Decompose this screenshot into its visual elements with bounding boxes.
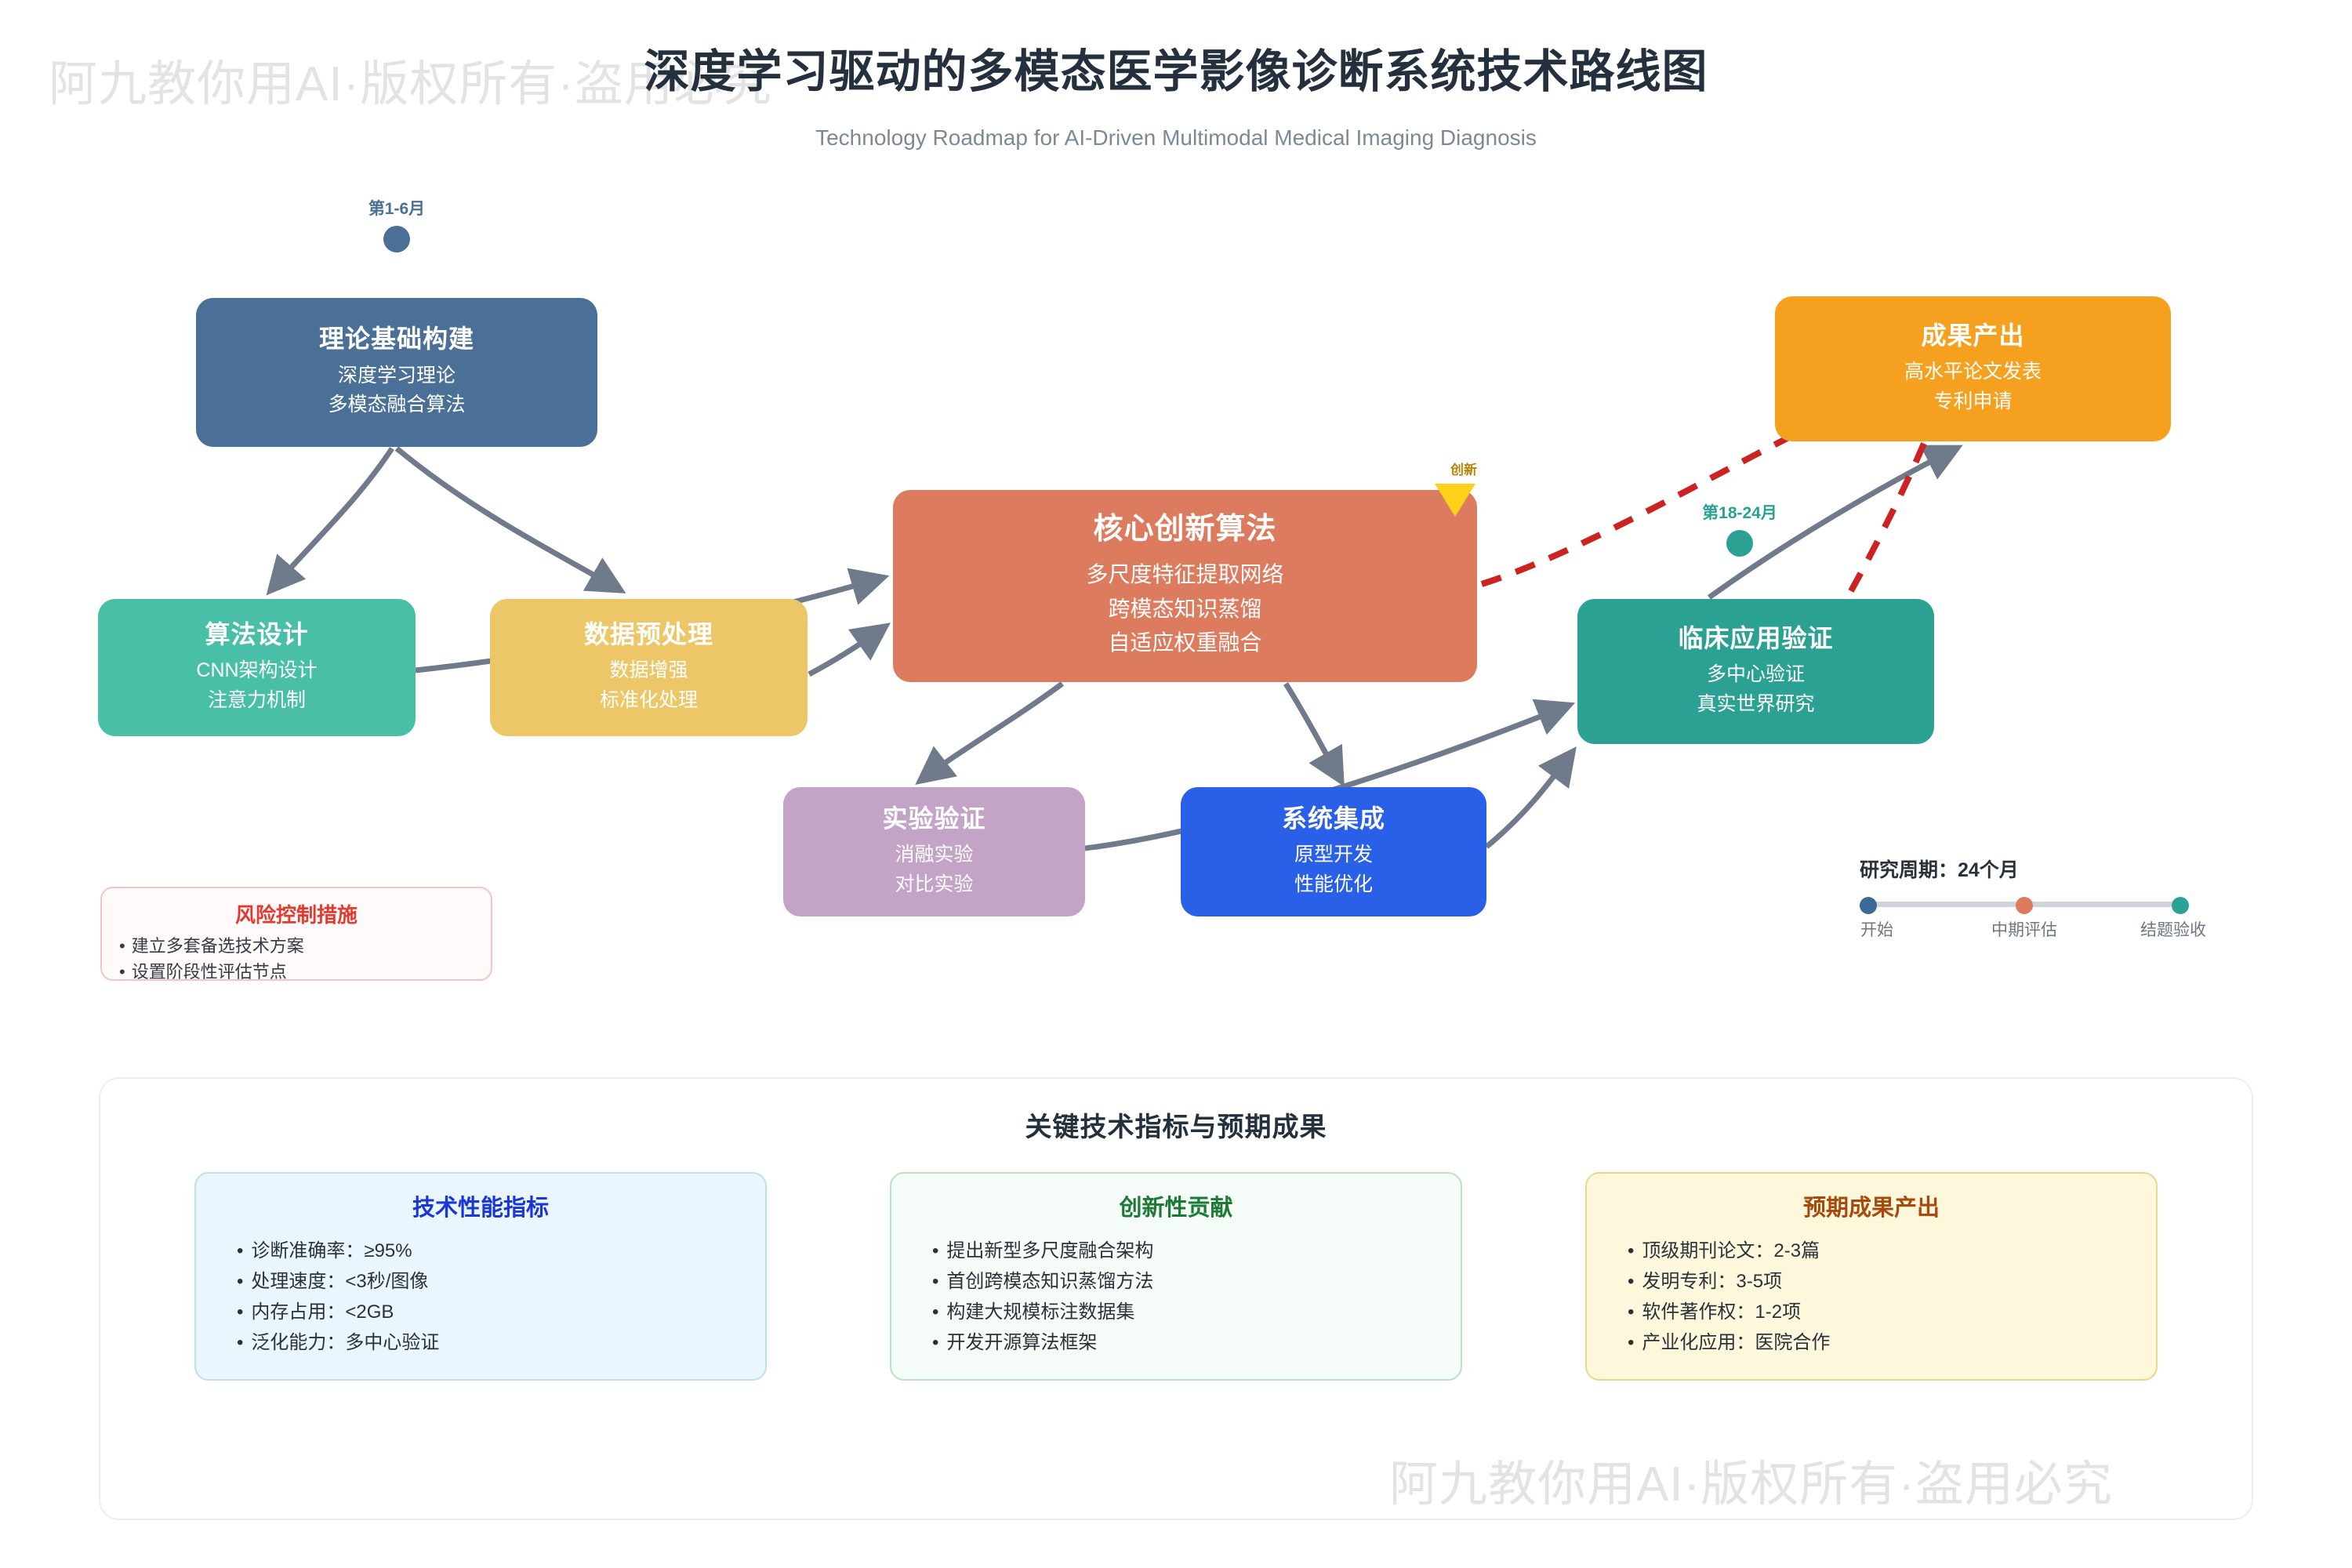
list-item: 产业化应用：医院合作 [1628, 1328, 2136, 1359]
node-line: 深度学习理论 [338, 361, 456, 391]
card-title: 预期成果产出 [1607, 1189, 2136, 1222]
milestone-dot-icon [383, 226, 410, 252]
timeline-labels: 开始 中期评估 结题验收 [1860, 917, 2189, 941]
milestone-phase-4: 第18-24月 [1661, 500, 1818, 557]
node-clinical-validation[interactable]: 临床应用验证 多中心验证 真实世界研究 [1577, 599, 1934, 744]
panel-title: 关键技术指标与预期成果 [100, 1105, 2252, 1144]
innovation-badge-label: 创新 [1450, 463, 1477, 477]
timeline-dot-start [1860, 897, 1877, 914]
timeline-title: 研究周期：24个月 [1860, 855, 2189, 883]
timeline-label-start: 开始 [1860, 917, 1893, 941]
node-line: 专利申请 [1933, 387, 2012, 417]
key-metrics-panel: 关键技术指标与预期成果 技术性能指标 诊断准确率：≥95% 处理速度：<3秒/图… [99, 1077, 2253, 1520]
timeline-label-final: 结题验收 [2140, 917, 2206, 941]
risk-control-list: 建立多套备选技术方案 设置阶段性评估节点 [119, 933, 474, 985]
list-item: 设置阶段性评估节点 [119, 959, 474, 985]
list-item: 诊断准确率：≥95% [237, 1236, 745, 1267]
node-line: 标准化处理 [600, 686, 698, 716]
node-algorithm[interactable]: 算法设计 CNN架构设计 注意力机制 [98, 599, 416, 736]
node-line: 自适应权重融合 [1108, 626, 1261, 659]
node-line: 跨模态知识蒸馏 [1108, 592, 1261, 626]
milestone-label: 第1-6月 [368, 196, 425, 220]
list-item: 顶级期刊论文：2-3篇 [1628, 1236, 2136, 1267]
card-list: 提出新型多尺度融合架构 首创跨模态知识蒸馏方法 构建大规模标注数据集 开发开源算… [912, 1236, 1440, 1359]
node-theory[interactable]: 理论基础构建 深度学习理论 多模态融合算法 [196, 298, 597, 447]
risk-control-box: 风险控制措施 建立多套备选技术方案 设置阶段性评估节点 [100, 887, 492, 981]
timeline-dot-midterm [2016, 897, 2033, 914]
card-expected-outputs: 预期成果产出 顶级期刊论文：2-3篇 发明专利：3-5项 软件著作权：1-2项 … [1585, 1172, 2158, 1381]
node-experiment[interactable]: 实验验证 消融实验 对比实验 [783, 787, 1085, 916]
list-item: 开发开源算法框架 [932, 1328, 1440, 1359]
milestone-phase-1: 第1-6月 [318, 196, 475, 252]
card-innovation-contributions: 创新性贡献 提出新型多尺度融合架构 首创跨模态知识蒸馏方法 构建大规模标注数据集… [890, 1172, 1462, 1381]
list-item: 提出新型多尺度融合架构 [932, 1236, 1440, 1267]
node-line: CNN架构设计 [196, 656, 317, 686]
list-item: 首创跨模态知识蒸馏方法 [932, 1267, 1440, 1298]
research-timeline: 研究周期：24个月 开始 中期评估 结题验收 [1860, 855, 2189, 941]
list-item: 建立多套备选技术方案 [119, 933, 474, 959]
node-line: 性能优化 [1294, 870, 1373, 900]
node-title: 核心创新算法 [1093, 513, 1276, 547]
node-title: 临床应用验证 [1678, 624, 1833, 653]
node-output[interactable]: 成果产出 高水平论文发表 专利申请 [1775, 296, 2171, 441]
node-preprocess[interactable]: 数据预处理 数据增强 标准化处理 [490, 599, 808, 736]
list-item: 内存占用：<2GB [237, 1298, 745, 1328]
node-title: 实验验证 [882, 804, 985, 833]
list-item: 构建大规模标注数据集 [932, 1298, 1440, 1328]
node-line: 消融实验 [895, 840, 973, 870]
node-title: 算法设计 [205, 620, 308, 649]
timeline-label-midterm: 中期评估 [1991, 917, 2057, 941]
node-line: 多中心验证 [1707, 660, 1805, 690]
list-item: 软件著作权：1-2项 [1628, 1298, 2136, 1328]
node-title: 数据预处理 [584, 620, 713, 649]
node-line: 对比实验 [895, 870, 973, 900]
node-line: 高水平论文发表 [1904, 358, 2042, 387]
milestone-label: 第18-24月 [1702, 500, 1777, 524]
node-line: 多模态融合算法 [328, 390, 465, 420]
node-line: 真实世界研究 [1697, 690, 1814, 720]
triangle-icon [1435, 484, 1475, 517]
innovation-badge: 创新 [1430, 463, 1477, 539]
milestone-dot-icon [1726, 530, 1753, 557]
list-item: 泛化能力：多中心验证 [237, 1328, 745, 1359]
node-line: 数据增强 [609, 656, 688, 686]
node-integration[interactable]: 系统集成 原型开发 性能优化 [1181, 787, 1486, 916]
timeline-dot-final [2172, 897, 2189, 914]
list-item: 发明专利：3-5项 [1628, 1267, 2136, 1298]
node-line: 注意力机制 [208, 686, 306, 716]
node-line: 多尺度特征提取网络 [1086, 557, 1283, 591]
card-performance-metrics: 技术性能指标 诊断准确率：≥95% 处理速度：<3秒/图像 内存占用：<2GB … [194, 1172, 767, 1381]
node-title: 系统集成 [1282, 804, 1385, 833]
list-item: 处理速度：<3秒/图像 [237, 1267, 745, 1298]
node-line: 原型开发 [1294, 840, 1373, 870]
roadmap-canvas: 理论基础构建 深度学习理论 多模态融合算法 算法设计 CNN架构设计 注意力机制… [0, 0, 2352, 1051]
node-core-algorithm[interactable]: 创新 核心创新算法 多尺度特征提取网络 跨模态知识蒸馏 自适应权重融合 [893, 490, 1477, 682]
card-list: 顶级期刊论文：2-3篇 发明专利：3-5项 软件著作权：1-2项 产业化应用：医… [1607, 1236, 2136, 1359]
card-list: 诊断准确率：≥95% 处理速度：<3秒/图像 内存占用：<2GB 泛化能力：多中… [216, 1236, 745, 1359]
timeline-track [1860, 897, 2189, 911]
node-title: 成果产出 [1921, 321, 2024, 350]
card-title: 技术性能指标 [216, 1189, 745, 1222]
node-title: 理论基础构建 [319, 325, 474, 354]
panel-cards: 技术性能指标 诊断准确率：≥95% 处理速度：<3秒/图像 内存占用：<2GB … [100, 1144, 2252, 1381]
risk-control-title: 风险控制措施 [119, 899, 474, 928]
card-title: 创新性贡献 [912, 1189, 1440, 1222]
